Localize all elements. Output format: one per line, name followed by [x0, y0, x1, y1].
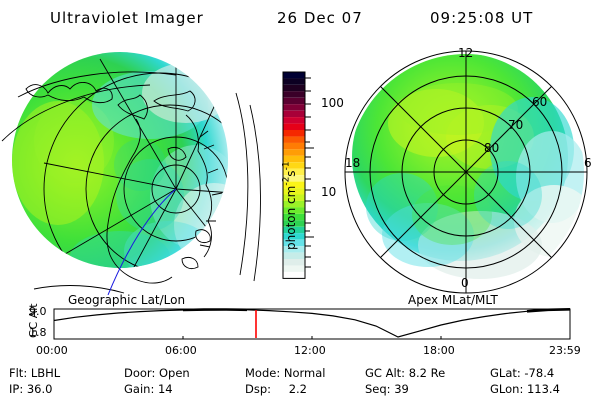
mlat-ring-label-80: 80 [484, 141, 499, 155]
mlat-ring-label-70: 70 [508, 118, 523, 132]
colorbar-axis-label-exp1: -2 [282, 177, 292, 186]
geographic-image-panel[interactable] [0, 45, 265, 295]
geographic-aurora-emission [12, 52, 254, 283]
status-ip-label: IP: [9, 382, 23, 396]
orbit-x-tick-2: 12:00 [294, 344, 326, 357]
status-gcalt-value: 8.2 Re [409, 366, 446, 380]
orbit-y-tick-top: 9.0 [29, 305, 47, 318]
mlt-dial-grid [345, 51, 587, 293]
orbit-x-tick-1: 06:00 [165, 344, 197, 357]
mlt-label-6: 6 [584, 156, 592, 170]
status-glat: GLat: -78.4 [490, 366, 554, 380]
status-glon-value: 113.4 [527, 382, 560, 396]
mlat-ring-label-60: 60 [532, 95, 547, 109]
status-seq-value: 39 [394, 382, 409, 396]
status-footer: Flt: LBHL Door: Open Mode: Normal GC Alt… [0, 366, 600, 398]
orbit-x-tick-0: 00:00 [36, 344, 68, 357]
status-door-label: Door: [124, 366, 155, 380]
colorbar-tick-marks [305, 78, 314, 267]
colorbar-axis-label-mid: s [284, 170, 298, 176]
status-gcalt-label: GC Alt: [365, 366, 405, 380]
mlt-label-12: 12 [458, 46, 473, 60]
colorbar-axis-label: photon cm-2s-1 [280, 10, 298, 250]
status-glon: GLon: 113.4 [490, 382, 560, 396]
status-seq: Seq: 39 [365, 382, 409, 396]
status-glon-label: GLon: [490, 382, 523, 396]
status-seq-label: Seq: [365, 382, 391, 396]
status-mode-value: Normal [284, 366, 326, 380]
colorbar-axis-label-main: photon cm [284, 186, 298, 250]
colorbar-tick-label-10: 10 [321, 185, 336, 199]
status-gain: Gain: 14 [124, 382, 173, 396]
orbit-altitude-strip[interactable] [0, 300, 600, 344]
colorbar-axis-label-exp2: -1 [282, 161, 292, 170]
photon-flux-colorbar[interactable] [265, 45, 350, 295]
status-dsp-value: 2.2 [289, 382, 307, 396]
status-glat-label: GLat: [490, 366, 521, 380]
observation-time: 09:25:08 UT [430, 9, 533, 27]
mlt-aurora-emission [352, 53, 594, 279]
status-mode-label: Mode: [245, 366, 280, 380]
status-flt: Flt: LBHL [9, 366, 60, 380]
status-gain-value: 14 [158, 382, 173, 396]
status-gain-label: Gain: [124, 382, 154, 396]
status-flt-value: LBHL [31, 366, 60, 380]
orbit-x-tick-3: 18:00 [423, 344, 455, 357]
status-ip: IP: 36.0 [9, 382, 52, 396]
status-door-value: Open [159, 366, 190, 380]
status-mode: Mode: Normal [245, 366, 325, 380]
orbit-x-tick-4: 23:59 [549, 344, 581, 357]
status-glat-value: -78.4 [524, 366, 554, 380]
status-ip-value: 36.0 [27, 382, 53, 396]
orbit-y-tick-bottom: 1.8 [29, 326, 47, 339]
instrument-title: Ultraviolet Imager [50, 9, 204, 27]
mlat-mlt-polar-panel[interactable] [340, 45, 600, 295]
mlt-label-18: 18 [345, 156, 360, 170]
status-flt-label: Flt: [9, 366, 27, 380]
status-dsp-label: Dsp: [245, 382, 271, 396]
mlt-label-0: 0 [461, 276, 469, 290]
status-dsp: Dsp: 2.2 [245, 382, 307, 396]
status-door: Door: Open [124, 366, 190, 380]
status-gcalt: GC Alt: 8.2 Re [365, 366, 445, 380]
